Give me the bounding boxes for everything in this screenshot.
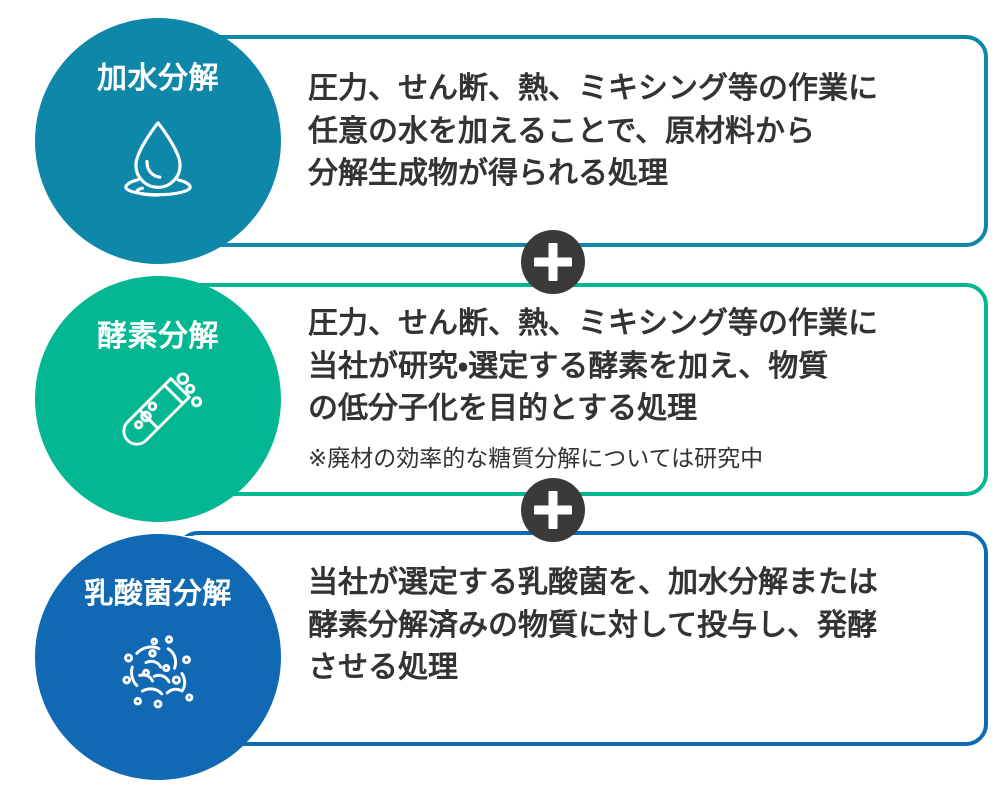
stage-label-lactic-acid-bacteria: 乳酸菌分解 <box>84 580 232 609</box>
plus-icon <box>534 243 572 281</box>
stage-label-hydrolysis: 加水分解 <box>97 64 219 94</box>
stage-label-enzyme: 酵素分解 <box>97 322 219 352</box>
stage-circle-hydrolysis[interactable]: 加水分解 <box>35 18 281 264</box>
plus-connector-1 <box>521 230 585 294</box>
water-drop-icon <box>112 110 204 202</box>
test-tube-icon <box>112 364 204 456</box>
stage-note-enzyme: ※廃材の効率的な糖質分解については研究中 <box>308 444 763 474</box>
stage-circle-lactic-acid-bacteria[interactable]: 乳酸菌分解 <box>35 534 281 780</box>
stage-description-lactic-acid-bacteria: 当社が選定する乳酸菌を、加水分解または 酵素分解済みの物質に対して投与し、発酵 … <box>308 562 878 690</box>
bacteria-icon <box>112 623 204 715</box>
plus-icon <box>534 491 572 529</box>
process-diagram: 加水分解 圧力、せん断、熱、ミキシング等の作業に 任意の水を加えることで、原材料… <box>0 0 1000 787</box>
stage-circle-enzyme[interactable]: 酵素分解 <box>35 276 281 522</box>
stage-description-hydrolysis: 圧力、せん断、熱、ミキシング等の作業に 任意の水を加えることで、原材料から 分解… <box>308 68 878 196</box>
stage-description-enzyme: 圧力、せん断、熱、ミキシング等の作業に 当社が研究・選定する酵素を加え、物質 の… <box>308 303 878 431</box>
plus-connector-2 <box>521 478 585 542</box>
